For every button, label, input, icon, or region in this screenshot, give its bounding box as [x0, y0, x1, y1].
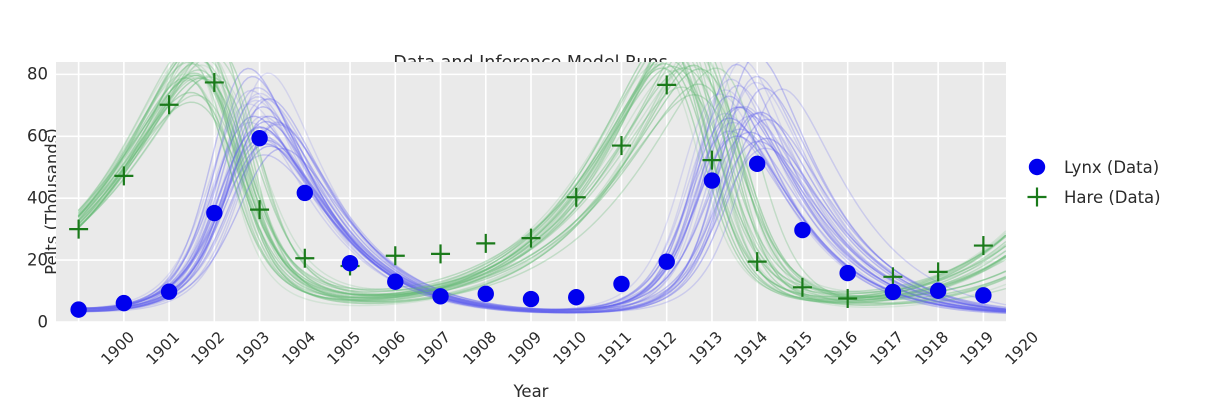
x-axis-tick-label: 1914 [730, 328, 771, 369]
y-axis-tick-label: 60 [4, 127, 48, 146]
lynx-data-point [387, 274, 403, 290]
lynx-data-point [161, 283, 177, 299]
x-axis-tick-label: 1915 [776, 328, 817, 369]
hare-plus-icon [1020, 184, 1054, 210]
x-axis-tick-label: 1917 [866, 328, 907, 369]
x-axis-tick-label: 1907 [414, 328, 455, 369]
x-axis-tick-label: 1903 [233, 328, 274, 369]
y-axis-tick-label: 80 [4, 65, 48, 84]
x-axis-tick-label: 1911 [595, 328, 636, 369]
hare-data-point [431, 244, 450, 263]
hare-data-point [476, 234, 495, 253]
hare-data-point [69, 220, 88, 239]
legend-item-label: Lynx (Data) [1064, 158, 1159, 177]
x-axis-tick-label: 1900 [97, 328, 138, 369]
lynx-data-point [478, 286, 494, 302]
legend-item[interactable]: Lynx (Data) [1020, 152, 1210, 182]
y-axis-tick-label: 0 [4, 313, 48, 332]
x-axis-tick-label: 1920 [1002, 328, 1043, 369]
x-axis-tick-label: 1908 [459, 328, 500, 369]
x-axis-label: Year [56, 382, 1006, 401]
x-axis-tick-label: 1901 [142, 328, 183, 369]
lynx-data-point [70, 301, 86, 317]
chart-legend: Lynx (Data)Hare (Data) [1020, 152, 1210, 212]
lynx-data-point [975, 287, 991, 303]
lynx-data-point [613, 276, 629, 292]
lynx-data-point [432, 288, 448, 304]
lynx-circle-icon [1020, 154, 1054, 180]
x-axis-tick-label: 1913 [685, 328, 726, 369]
x-axis-tick-label: 1905 [323, 328, 364, 369]
lynx-data-point [839, 265, 855, 281]
y-axis-tick-label: 20 [4, 251, 48, 270]
y-axis-tick-label: 40 [4, 189, 48, 208]
lynx-data-point [749, 156, 765, 172]
lynx-data-point [930, 283, 946, 299]
x-axis-tick-label: 1909 [504, 328, 545, 369]
lynx-data-point [794, 222, 810, 238]
hare-data-point [295, 249, 314, 268]
lynx-data-point [568, 289, 584, 305]
lynx-data-point [206, 205, 222, 221]
chart-figure: Data and Inference Model Runs SMC epsilo… [0, 0, 1211, 411]
x-axis-tick-label: 1902 [188, 328, 229, 369]
x-axis-tick-label: 1912 [640, 328, 681, 369]
x-axis-tick-label: 1918 [911, 328, 952, 369]
lynx-data-point [885, 284, 901, 300]
legend-item-label: Hare (Data) [1064, 188, 1161, 207]
x-axis-tick-label: 1916 [821, 328, 862, 369]
hare-data-point [974, 236, 993, 255]
lynx-data-point [342, 255, 358, 271]
x-axis-tick-label: 1910 [550, 328, 591, 369]
lynx-data-point [659, 253, 675, 269]
lynx-data-point [704, 172, 720, 188]
lynx-data-point [251, 130, 267, 146]
lynx-data-point [116, 295, 132, 311]
legend-item[interactable]: Hare (Data) [1020, 182, 1210, 212]
plot-area [56, 62, 1006, 322]
lynx-data-point [297, 185, 313, 201]
x-axis-tick-label: 1904 [278, 328, 319, 369]
lynx-data-point [523, 291, 539, 307]
data-layer [56, 62, 1006, 322]
x-axis-tick-label: 1906 [369, 328, 410, 369]
x-axis-tick-label: 1919 [957, 328, 998, 369]
